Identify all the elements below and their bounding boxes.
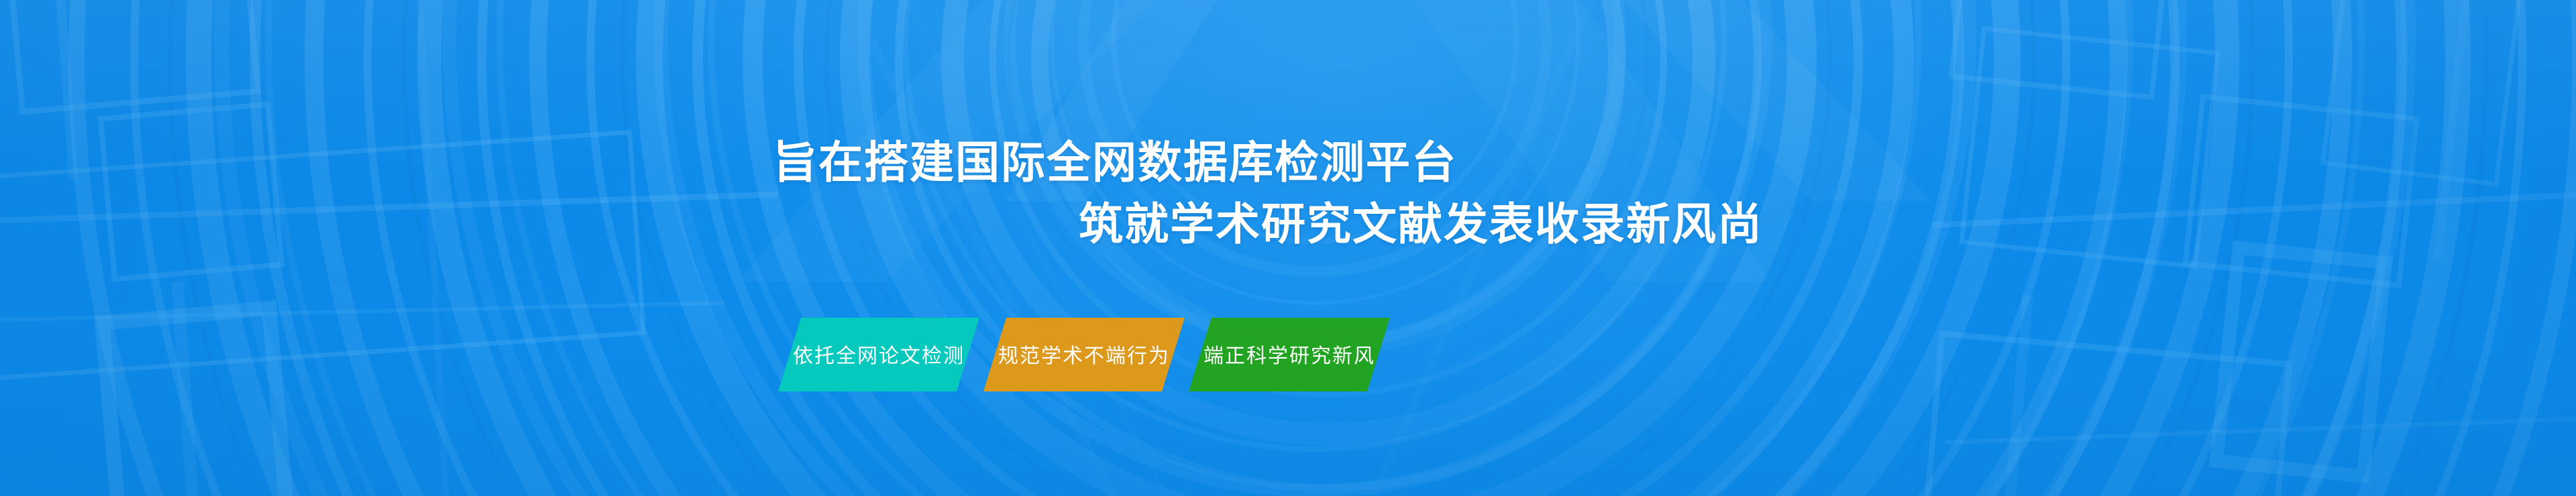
headline-line-2: 筑就学术研究文献发表收录新风尚 xyxy=(0,193,2576,255)
headline-block: 旨在搭建国际全网数据库检测平台 筑就学术研究文献发表收录新风尚 xyxy=(0,131,2576,255)
feature-tag-3-label: 端正科学研究新风 xyxy=(1197,339,1382,369)
feature-tag-1[interactable]: 依托全网论文检测 xyxy=(778,318,979,391)
promo-banner: 旨在搭建国际全网数据库检测平台 筑就学术研究文献发表收录新风尚 依托全网论文检测… xyxy=(0,0,2576,496)
feature-tag-3[interactable]: 端正科学研究新风 xyxy=(1189,318,1390,391)
feature-tag-2-label: 规范学术不端行为 xyxy=(991,339,1177,369)
headline-line-1: 旨在搭建国际全网数据库检测平台 xyxy=(0,131,2576,193)
feature-tag-1-label: 依托全网论文检测 xyxy=(786,339,971,369)
feature-tag-2[interactable]: 规范学术不端行为 xyxy=(983,318,1185,391)
feature-tag-strip: 依托全网论文检测 规范学术不端行为 端正科学研究新风 xyxy=(778,318,1390,391)
